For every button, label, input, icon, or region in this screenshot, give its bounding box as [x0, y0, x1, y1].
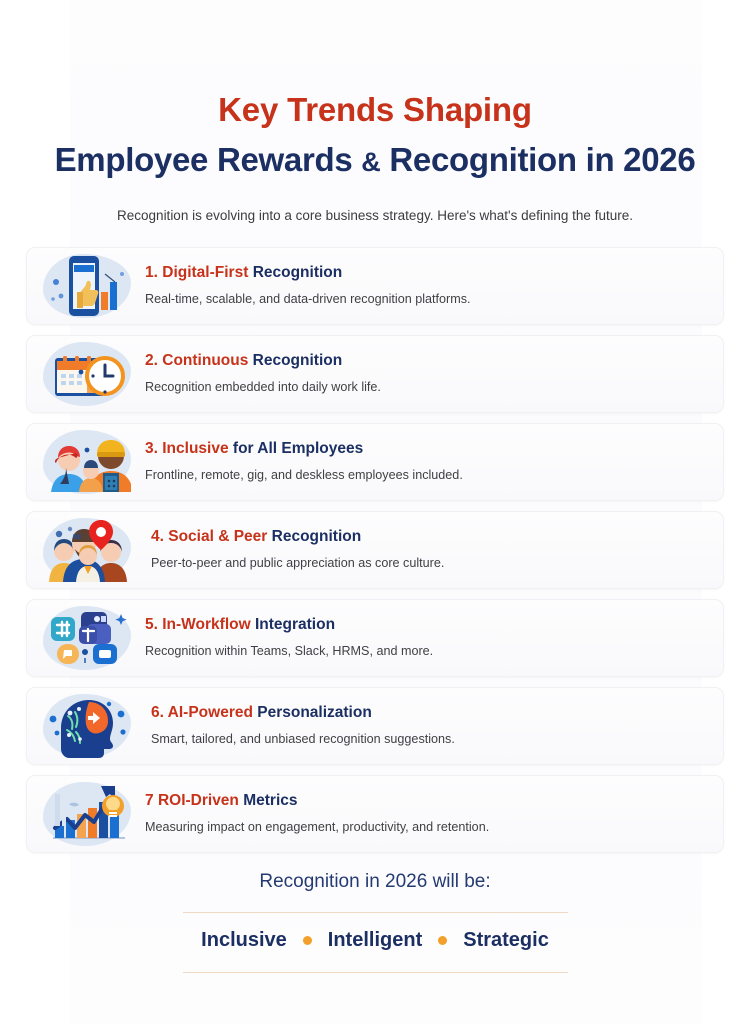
item-number: 3.	[145, 440, 158, 457]
item-title-accent: AI-Powered	[168, 704, 253, 721]
pillar-inclusive: Inclusive	[201, 929, 287, 952]
item-title-rest: for All Employees	[233, 440, 363, 457]
page-title-line-1: Key Trends Shaping	[26, 92, 724, 128]
item-number: 4.	[151, 528, 164, 545]
icon-art	[43, 428, 131, 496]
bullet-dot-icon	[303, 936, 312, 945]
list-item-text: 6. AI-Powered Personalization Smart, tai…	[139, 704, 713, 748]
list-item-title: 6. AI-Powered Personalization	[151, 704, 713, 723]
item-title-accent: ROI-Driven	[158, 792, 239, 809]
item-title-accent: Inclusive	[162, 440, 228, 457]
list-item-title: 7 ROI-Driven Metrics	[145, 792, 713, 811]
list-item-text: 2. Continuous Recognition Recognition em…	[139, 352, 713, 396]
item-title-rest: Recognition	[253, 352, 343, 369]
list-item-description: Measuring impact on engagement, producti…	[145, 819, 713, 835]
list-item[interactable]: 2. Continuous Recognition Recognition em…	[26, 335, 724, 413]
title-part-b: Recognition in 2026	[381, 141, 696, 178]
app-integration-icon	[35, 602, 139, 674]
page-subtitle: Recognition is evolving into a core busi…	[26, 207, 724, 225]
item-number: 6.	[151, 704, 164, 721]
item-title-accent: In-Workflow	[162, 616, 250, 633]
icon-art	[43, 516, 131, 584]
icon-art	[43, 692, 131, 760]
list-item[interactable]: 7 ROI-Driven Metrics Measuring impact on…	[26, 775, 724, 853]
item-number: 1.	[145, 264, 158, 281]
pillar-strategic: Strategic	[463, 929, 549, 952]
list-item-title: 2. Continuous Recognition	[145, 352, 713, 371]
item-title-rest: Recognition	[272, 528, 362, 545]
list-item[interactable]: 3. Inclusive for All Employees Frontline…	[26, 423, 724, 501]
ai-brain-head-icon	[35, 690, 139, 762]
icon-art	[43, 604, 131, 672]
pillar-list: Inclusive Intelligent Strategic	[26, 929, 724, 952]
list-item-description: Smart, tailored, and unbiased recognitio…	[151, 731, 713, 747]
list-item-description: Recognition embedded into daily work lif…	[145, 379, 713, 395]
footer-heading: Recognition in 2026 will be:	[26, 871, 724, 894]
diverse-workers-icon	[35, 426, 139, 498]
growth-chart-bulb-icon	[35, 778, 139, 850]
item-title-rest: Recognition	[253, 264, 343, 281]
calendar-clock-icon	[35, 338, 139, 410]
content-area: Key Trends Shaping Employee Rewards & Re…	[0, 0, 750, 973]
list-item[interactable]: 6. AI-Powered Personalization Smart, tai…	[26, 687, 724, 765]
pillar-intelligent: Intelligent	[328, 929, 422, 952]
header: Key Trends Shaping Employee Rewards & Re…	[26, 0, 724, 225]
list-item-description: Real-time, scalable, and data-driven rec…	[145, 291, 713, 307]
list-item[interactable]: 5. In-Workflow Integration Recognition w…	[26, 599, 724, 677]
list-item-text: 3. Inclusive for All Employees Frontline…	[139, 440, 713, 484]
list-item[interactable]: 4. Social & Peer Recognition Peer-to-pee…	[26, 511, 724, 589]
item-title-rest: Metrics	[243, 792, 297, 809]
item-number: 7	[145, 792, 154, 809]
item-title-rest: Personalization	[257, 704, 372, 721]
list-item-text: 4. Social & Peer Recognition Peer-to-pee…	[139, 528, 713, 572]
divider-top	[183, 912, 568, 913]
list-item-text: 1. Digital-First Recognition Real-time, …	[139, 264, 713, 308]
list-item-title: 5. In-Workflow Integration	[145, 616, 713, 635]
item-title-accent: Continuous	[162, 352, 248, 369]
people-group-pin-icon	[35, 514, 139, 586]
list-item-title: 4. Social & Peer Recognition	[151, 528, 713, 547]
list-item-description: Peer-to-peer and public appreciation as …	[151, 555, 713, 571]
list-item-text: 7 ROI-Driven Metrics Measuring impact on…	[139, 792, 713, 836]
phone-thumbs-up-chart-icon	[35, 250, 139, 322]
page-title-line-2: Employee Rewards & Recognition in 2026	[26, 142, 724, 178]
infographic-page: Key Trends Shaping Employee Rewards & Re…	[0, 0, 750, 1024]
list-item-title: 1. Digital-First Recognition	[145, 264, 713, 283]
divider-bottom	[183, 972, 568, 973]
list-item-description: Recognition within Teams, Slack, HRMS, a…	[145, 643, 713, 659]
list-item[interactable]: 1. Digital-First Recognition Real-time, …	[26, 247, 724, 325]
item-title-rest: Integration	[255, 616, 335, 633]
footer: Recognition in 2026 will be: Inclusive I…	[26, 871, 724, 973]
trend-list: 1. Digital-First Recognition Real-time, …	[26, 247, 724, 853]
icon-art	[43, 340, 131, 408]
list-item-description: Frontline, remote, gig, and deskless emp…	[145, 467, 713, 483]
list-item-text: 5. In-Workflow Integration Recognition w…	[139, 616, 713, 660]
title-ampersand: &	[361, 147, 380, 177]
item-title-accent: Social & Peer	[168, 528, 267, 545]
title-part-a: Employee Rewards	[55, 141, 362, 178]
bullet-dot-icon	[438, 936, 447, 945]
item-title-accent: Digital-First	[162, 264, 248, 281]
icon-art	[43, 252, 131, 320]
item-number: 5.	[145, 616, 158, 633]
item-number: 2.	[145, 352, 158, 369]
icon-art	[43, 780, 131, 848]
list-item-title: 3. Inclusive for All Employees	[145, 440, 713, 459]
